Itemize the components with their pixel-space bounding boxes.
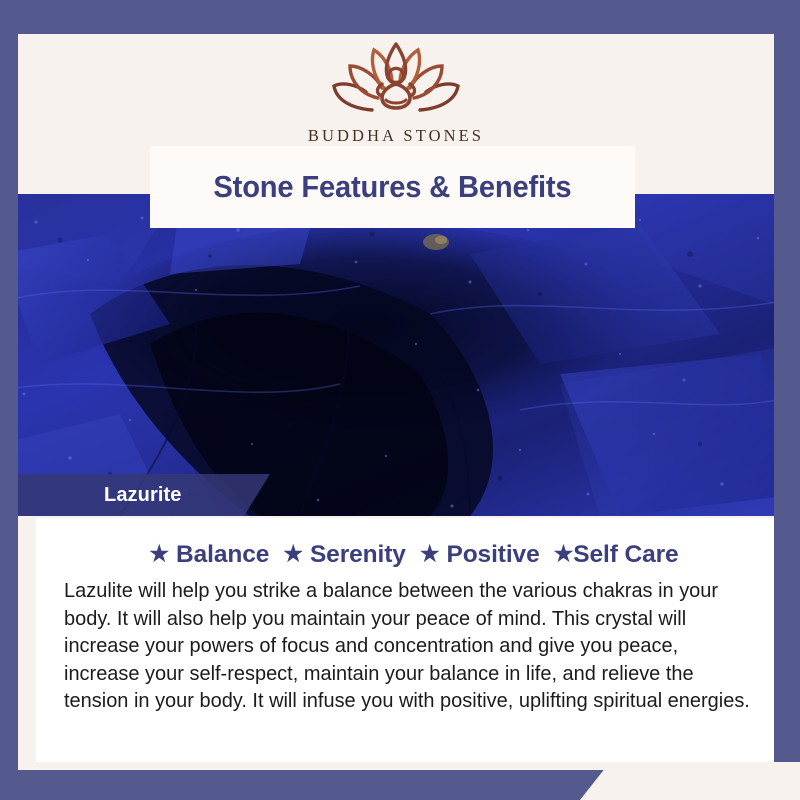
star-icon: ★ (554, 541, 574, 567)
feature-keywords: ★Balance★Serenity★Positive★Self Care (36, 541, 774, 569)
star-icon: ★ (149, 541, 169, 567)
brand-wordmark: BUDDHA STONES (308, 126, 484, 146)
stone-name-label: Lazurite (104, 484, 181, 507)
feature-label-balance: Balance (176, 541, 269, 568)
feature-label-self-care: Self Care (573, 541, 678, 568)
lazurite-stone-photo (18, 194, 774, 516)
star-icon: ★ (420, 541, 440, 567)
feature-label-serenity: Serenity (310, 541, 406, 568)
stone-description: Lazulite will help you strike a balance … (64, 578, 754, 716)
feature-label-positive: Positive (446, 541, 539, 568)
corner-accent-notch (580, 762, 800, 800)
star-icon: ★ (283, 541, 303, 567)
content-panel: ★Balance★Serenity★Positive★Self Care Laz… (36, 518, 774, 762)
infographic-card: BUDDHA STONES (0, 0, 800, 800)
title-banner: Stone Features & Benefits (150, 146, 635, 228)
stone-name-plate: Lazurite (18, 474, 270, 516)
card-background: BUDDHA STONES (18, 34, 774, 770)
lotus-meditation-figure-icon (326, 38, 466, 122)
page-title: Stone Features & Benefits (213, 169, 571, 205)
